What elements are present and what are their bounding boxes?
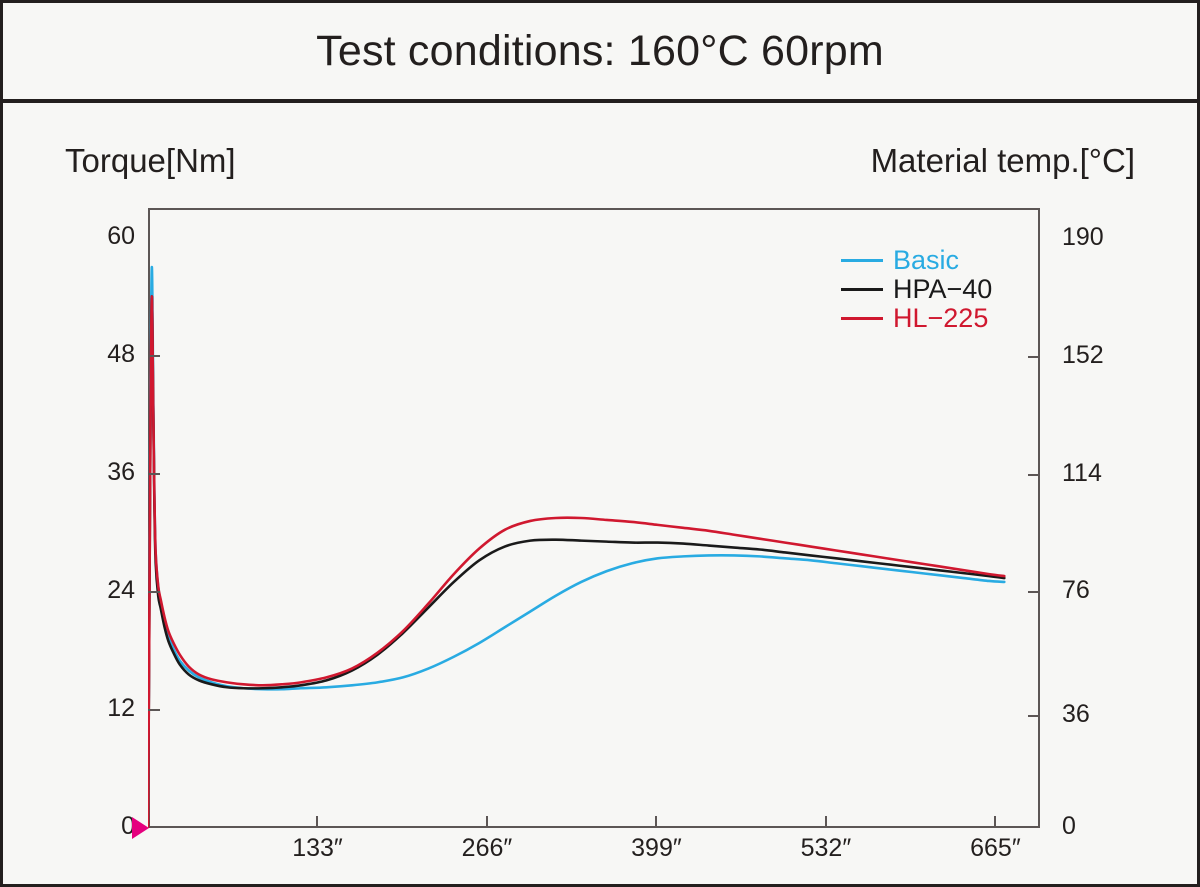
legend-item-label: HL−225 [893,305,988,332]
y2-axis-tick-label: 190 [1062,223,1152,252]
x-axis-tick-label: 532″ [766,834,886,863]
x-axis-tick-label: 399″ [596,834,716,863]
title-band: Test conditions: 160°C 60rpm [3,3,1197,103]
y-axis-tick-label: 36 [65,458,135,487]
legend-item-label: Basic [893,247,959,274]
x-axis-tick-mark [655,816,657,828]
legend-item-hpa-40[interactable]: HPA−40 [841,275,1026,304]
y2-axis-tick-label: 36 [1062,700,1152,729]
y2-axis-tick-label: 0 [1062,812,1152,841]
y-axis-tick-mark [148,709,160,711]
y2-axis-tick-mark [1028,474,1040,476]
y-axis-tick-label: 0 [65,812,135,841]
chart-page: Test conditions: 160°C 60rpm Torque[Nm] … [0,0,1200,887]
legend-item-basic[interactable]: Basic [841,246,1026,275]
y-axis-tick-mark [148,473,160,475]
x-axis-tick-mark [486,816,488,828]
y2-axis-tick-mark [1028,356,1040,358]
x-axis-tick-label: 266″ [427,834,547,863]
y2-axis-tick-label: 114 [1062,459,1152,488]
x-axis-tick-label: 665″ [935,834,1055,863]
x-axis-tick-mark [994,816,996,828]
legend-line-swatch-icon [841,259,883,262]
legend-line-swatch-icon [841,288,883,291]
legend-item-hl-225[interactable]: HL−225 [841,304,1026,333]
y2-axis-tick-mark [1028,715,1040,717]
x-axis-tick-mark [316,816,318,828]
series-line-basic [148,267,1004,828]
y-axis-tick-label: 60 [65,222,135,251]
chart-legend: BasicHPA−40HL−225 [841,246,1026,333]
legend-item-label: HPA−40 [893,276,992,303]
y-axis-tick-mark [148,355,160,357]
y2-axis-tick-label: 76 [1062,576,1152,605]
y-axis-tick-label: 12 [65,694,135,723]
y2-axis-tick-mark [1028,591,1040,593]
page-title: Test conditions: 160°C 60rpm [316,27,884,76]
left-axis-title: Torque[Nm] [65,142,236,180]
x-axis-tick-mark [825,816,827,828]
start-triangle-icon [132,817,149,839]
legend-line-swatch-icon [841,317,883,320]
series-line-hpa-40 [148,296,1004,828]
y2-axis-tick-label: 152 [1062,341,1152,370]
y-axis-tick-label: 24 [65,576,135,605]
y-axis-tick-mark [148,591,160,593]
x-axis-tick-label: 133″ [257,834,377,863]
right-axis-title: Material temp.[°C] [871,142,1135,180]
y-axis-tick-label: 48 [65,340,135,369]
